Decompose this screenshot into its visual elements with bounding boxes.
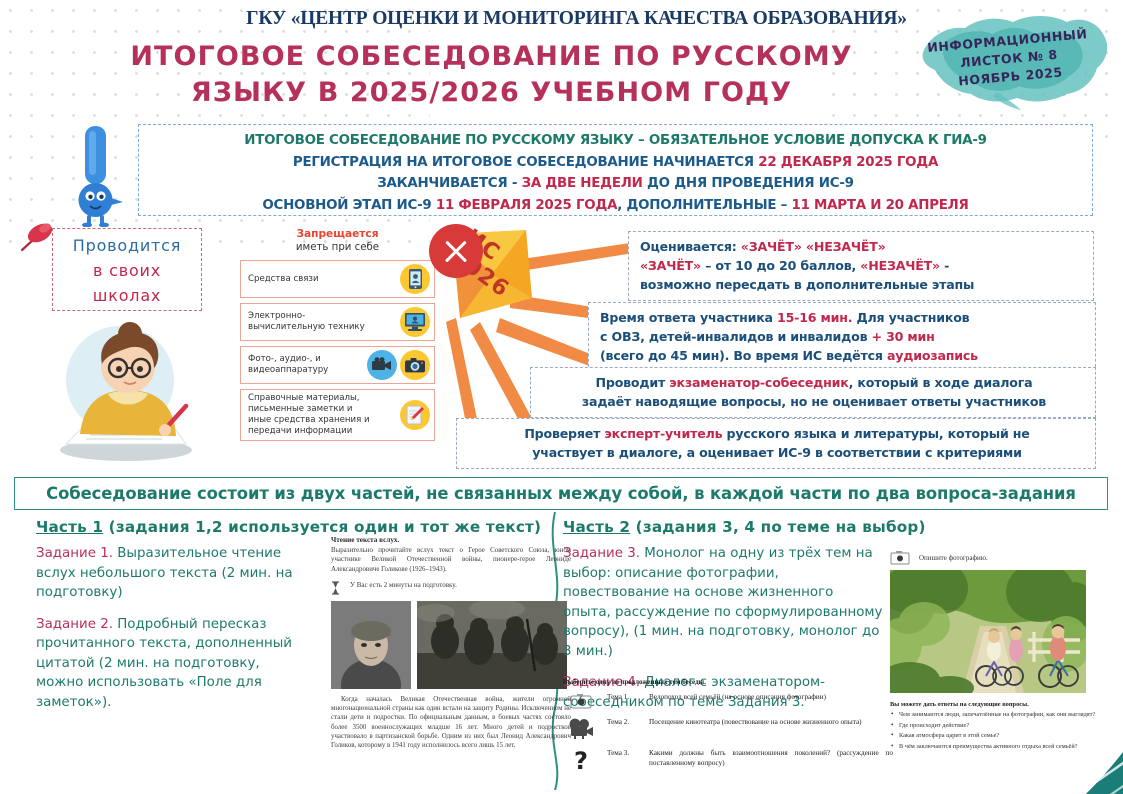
prohibited-item-recording-equipment: Фото-, аудио-, и видеоаппаратуру — [240, 346, 435, 384]
part2-sample-document: Опишите фотографию. — [890, 550, 1108, 753]
part1-task-1: Задание 1. Выразительное чтение вслух не… — [36, 544, 308, 603]
page-title-line1: ИТОГОВОЕ СОБЕСЕДОВАНИЕ ПО РУССКОМУ — [20, 39, 963, 75]
notice-line-4-date1: 11 ФЕВРАЛЯ 2025 ГОДА — [436, 198, 617, 213]
prohibited-item-label: Фото-, аудио-, и видеоаппаратуру — [248, 354, 362, 376]
hourglass-icon — [331, 581, 340, 595]
prohibited-item-icons — [400, 307, 430, 337]
prohibited-item-computing: Электронно- вычислительную технику — [240, 303, 435, 341]
camera-icon — [400, 350, 430, 380]
scoring-line-1: Оценивается: «ЗАЧЁТ» «НЕЗАЧЁТ» — [640, 237, 1084, 256]
part1-heading: Часть 1 (задания 1,2 используется один и… — [36, 518, 536, 536]
prohibited-item-label: Средства связи — [248, 274, 395, 285]
venue-line-1: Проводится — [53, 234, 201, 258]
notice-line-4-date2: 11 МАРТА И 20 АПРЕЛЯ — [792, 198, 969, 213]
part1-heading-label: Часть 1 — [36, 518, 103, 536]
prohibited-item-icons — [400, 264, 430, 294]
expert-line-1: Проверяет эксперт-учитель русского языка… — [468, 424, 1086, 443]
notice-line-2: РЕГИСТРАЦИЯ НА ИТОГОВОЕ СОБЕСЕДОВАНИЕ НА… — [139, 152, 1092, 174]
film-camera-icon — [563, 718, 599, 740]
photo-caption-row: Опишите фотографию. — [890, 550, 1108, 565]
scoring-pass-label: «ЗАЧЁТ» — [640, 258, 701, 273]
sample-doc-heading: Чтение текста вслух. — [331, 536, 571, 544]
part2-heading-detail: (задания 3, 4 по теме на выбор) — [630, 518, 925, 536]
venue-line-3: школах — [53, 283, 201, 308]
computer-icon — [400, 307, 430, 337]
sample-doc-body: Когда началась Великая Отечественная вой… — [331, 695, 571, 751]
scoring-line-2: «ЗАЧЁТ» – от 10 до 20 баллов, «НЕЗАЧЁТ» … — [640, 256, 1084, 275]
timing-audio-note: аудиозапись — [887, 348, 978, 363]
list-item: Какая атмосфера царит в этой семье? — [890, 732, 1108, 741]
notice-line-2-date: 22 ДЕКАБРЯ 2025 ГОДА — [758, 155, 938, 170]
part2-themes-block: Выберите одну из предложенных тем беседы… — [563, 678, 893, 784]
examiner-info-box: Проводит экзаменатор-собеседник, который… — [530, 367, 1096, 418]
venue-info-box: Проводится в своих школах — [52, 228, 202, 311]
question-mark-icon: ? — [563, 749, 599, 775]
timing-line-2: с ОВЗ, детей-инвалидов и инвалидов + 30 … — [600, 327, 1086, 346]
part2-column: Часть 2 (задания 3, 4 по теме на выбор) … — [563, 518, 1111, 724]
prohibited-item-icons — [367, 350, 430, 380]
timing-extra: + 30 мин — [872, 329, 935, 344]
expert-line-2: участвует в диалоге, а оценивает ИС-9 в … — [468, 443, 1086, 462]
structure-banner-text: Собеседование состоит из двух частей, не… — [46, 484, 1076, 503]
expert-info-box: Проверяет эксперт-учитель русского языка… — [456, 418, 1096, 469]
exclamation-mark-mascot-icon — [66, 122, 126, 227]
part2-heading-label: Часть 2 — [563, 518, 630, 536]
part2-heading: Часть 2 (задания 3, 4 по теме на выбор) — [563, 518, 1111, 536]
themes-heading: Выберите одну из предложенных тем беседы… — [563, 678, 893, 686]
questions-heading: Вы можете дать ответы на следующие вопро… — [890, 701, 1108, 708]
examiner-line-1: Проводит экзаменатор-собеседник, который… — [542, 373, 1086, 392]
scoring-range: – от 10 до 20 баллов, — [701, 258, 860, 273]
expert-line-1-prefix: Проверяет — [524, 426, 604, 441]
part2-task-3-text: Монолог на одну из трёх тем на выбор: оп… — [563, 546, 882, 659]
scoring-line-1-values: «ЗАЧЁТ» «НЕЗАЧЁТ» — [741, 239, 886, 254]
examiner-line-1-suffix: , который в ходе диалога — [849, 375, 1033, 390]
camera-icon — [890, 550, 910, 565]
notice-line-3: ЗАКАНЧИВАЕТСЯ - ЗА ДВЕ НЕДЕЛИ ДО ДНЯ ПРО… — [139, 173, 1092, 195]
timing-line-3: (всего до 45 мин). Во время ИС ведётся а… — [600, 346, 1086, 365]
timing-info-box: Время ответа участника 15-16 мин. Для уч… — [588, 302, 1096, 372]
prohibited-item-communication: Средства связи — [240, 260, 435, 298]
prohibited-item-label: Электронно- вычислительную технику — [248, 311, 395, 333]
theme-row: ? Тема 3. Какими должны быть взаимоотнош… — [563, 749, 893, 775]
prohibited-title: Запрещается — [240, 228, 435, 241]
sample-doc-intro: Выразительно прочитайте вслух текст о Ге… — [331, 546, 571, 574]
videocamera-icon — [367, 350, 397, 380]
theme-text: Какими должны быть взаимоотношения покол… — [649, 749, 893, 769]
expert-line-1-suffix: русского языка и литературы, который не — [722, 426, 1029, 441]
scoring-fail-label: «НЕЗАЧЁТ» — [860, 258, 940, 273]
examiner-line-2: задаёт наводящие вопросы, но не оценивае… — [542, 392, 1086, 411]
theme-row: Тема 1. Велопоход всей семьёй (на основе… — [563, 693, 893, 709]
notepad-pencil-icon — [400, 400, 430, 430]
soldier-portrait-photo — [331, 601, 411, 689]
smartphone-icon — [400, 264, 430, 294]
theme-text: Посещение кинотеатра (повествование на о… — [649, 718, 893, 728]
questions-list: Чем занимаются люди, запечатлённые на фо… — [890, 711, 1108, 751]
part2-task-3-label: Задание 3. — [563, 546, 640, 561]
notice-line-4: ОСНОВНОЙ ЭТАП ИС-9 11 ФЕВРАЛЯ 2025 ГОДА,… — [139, 195, 1092, 217]
notice-line-3-highlight: ЗА ДВЕ НЕДЕЛИ — [522, 176, 643, 191]
timing-duration: 15-16 мин. — [777, 310, 852, 325]
red-cross-icon — [429, 224, 483, 278]
venue-line-2: в своих — [53, 258, 201, 283]
poster-root: ГКУ «ЦЕНТР ОЦЕНКИ И МОНИТОРИНГА КАЧЕСТВА… — [0, 0, 1123, 794]
part1-column: Часть 1 (задания 1,2 используется один и… — [36, 518, 536, 724]
sample-doc-timer-note: У Вас есть 2 минуты на подготовку. — [331, 581, 571, 595]
sample-doc-photos — [331, 601, 571, 689]
timing-line-1: Время ответа участника 15-16 мин. Для уч… — [600, 308, 1086, 327]
family-cycling-photo — [890, 570, 1086, 693]
examiner-role: экзаменатор-собеседник — [669, 375, 848, 390]
scoring-line-1-prefix: Оценивается: — [640, 239, 741, 254]
notice-line-2-prefix: РЕГИСТРАЦИЯ НА ИТОГОВОЕ СОБЕСЕДОВАНИЕ НА… — [293, 155, 758, 170]
part1-task-1-label: Задание 1. — [36, 546, 113, 561]
theme-text: Велопоход всей семьёй (на основе описани… — [649, 693, 893, 703]
page-title-line2: ЯЗЫКУ В 2025/2026 УЧЕБНОМ ГОДУ — [20, 75, 963, 111]
theme-number: Тема 1. — [607, 693, 641, 701]
timing-line-2-prefix: с ОВЗ, детей-инвалидов и инвалидов — [600, 329, 872, 344]
scoring-line-3: возможно пересдать в дополнительные этап… — [640, 275, 1084, 294]
notice-line-3-suffix: ДО ДНЯ ПРОВЕДЕНИЯ ИС-9 — [643, 176, 854, 191]
scoring-info-box: Оценивается: «ЗАЧЁТ» «НЕЗАЧЁТ» «ЗАЧЁТ» –… — [628, 231, 1094, 301]
key-dates-notice-box: ИТОГОВОЕ СОБЕСЕДОВАНИЕ ПО РУССКОМУ ЯЗЫКУ… — [138, 124, 1093, 216]
photo-caption: Опишите фотографию. — [919, 554, 988, 562]
notice-line-4-middle: , ДОПОЛНИТЕЛЬНЫЕ – — [617, 198, 791, 213]
prohibited-item-reference-materials: Справочные материалы, письменные заметки… — [240, 389, 435, 441]
part1-sample-document: Чтение текста вслух. Выразительно прочит… — [331, 536, 571, 751]
information-sheet-badge: ИНФОРМАЦИОННЫЙ ЛИСТОК № 8 НОЯБРЬ 2025 — [901, 4, 1117, 114]
timing-line-3-prefix: (всего до 45 мин). Во время ИС ведётся — [600, 348, 887, 363]
notice-line-1: ИТОГОВОЕ СОБЕСЕДОВАНИЕ ПО РУССКОМУ ЯЗЫКУ… — [139, 130, 1092, 152]
list-item: Где происходит действие? — [890, 722, 1108, 731]
theme-number: Тема 2. — [607, 718, 641, 726]
svg-text:?: ? — [574, 749, 588, 775]
theme-row: Тема 2. Посещение кинотеатра (повествова… — [563, 718, 893, 740]
student-writing-illustration — [36, 318, 226, 468]
push-pin-icon — [16, 218, 56, 258]
expert-role: эксперт-учитель — [604, 426, 722, 441]
prohibited-items-block: Запрещается иметь при себе Средства связ… — [240, 228, 435, 441]
prohibited-item-label: Справочные материалы, письменные заметки… — [248, 393, 395, 437]
scoring-line-2-suffix: - — [940, 258, 949, 273]
part1-task-2: Задание 2. Подробный пересказ прочитанно… — [36, 615, 308, 713]
structure-banner: Собеседование состоит из двух частей, не… — [14, 477, 1108, 510]
examiner-line-1-prefix: Проводит — [596, 375, 670, 390]
timing-line-1-suffix: Для участников — [852, 310, 969, 325]
list-item: Чем занимаются люди, запечатлённые на фо… — [890, 711, 1108, 720]
timing-line-1-prefix: Время ответа участника — [600, 310, 777, 325]
prohibited-subtitle: иметь при себе — [240, 241, 435, 255]
part2-task-3: Задание 3. Монолог на одну из трёх тем н… — [563, 544, 883, 661]
soldiers-field-photo — [417, 601, 567, 689]
prohibited-item-icons — [400, 400, 430, 430]
list-item: В чём заключаются преимущества активного… — [890, 743, 1108, 752]
theme-number: Тема 3. — [607, 749, 641, 757]
notice-line-4-prefix: ОСНОВНОЙ ЭТАП ИС-9 — [262, 198, 435, 213]
camera-icon — [563, 693, 599, 709]
sample-doc-timer-text: У Вас есть 2 минуты на подготовку. — [350, 581, 457, 589]
part1-task-2-label: Задание 2. — [36, 617, 113, 632]
part1-heading-detail: (задания 1,2 используется один и тот же … — [103, 518, 541, 536]
notice-line-3-prefix: ЗАКАНЧИВАЕТСЯ - — [377, 176, 521, 191]
part1-tasks: Задание 1. Выразительное чтение вслух не… — [36, 544, 308, 712]
